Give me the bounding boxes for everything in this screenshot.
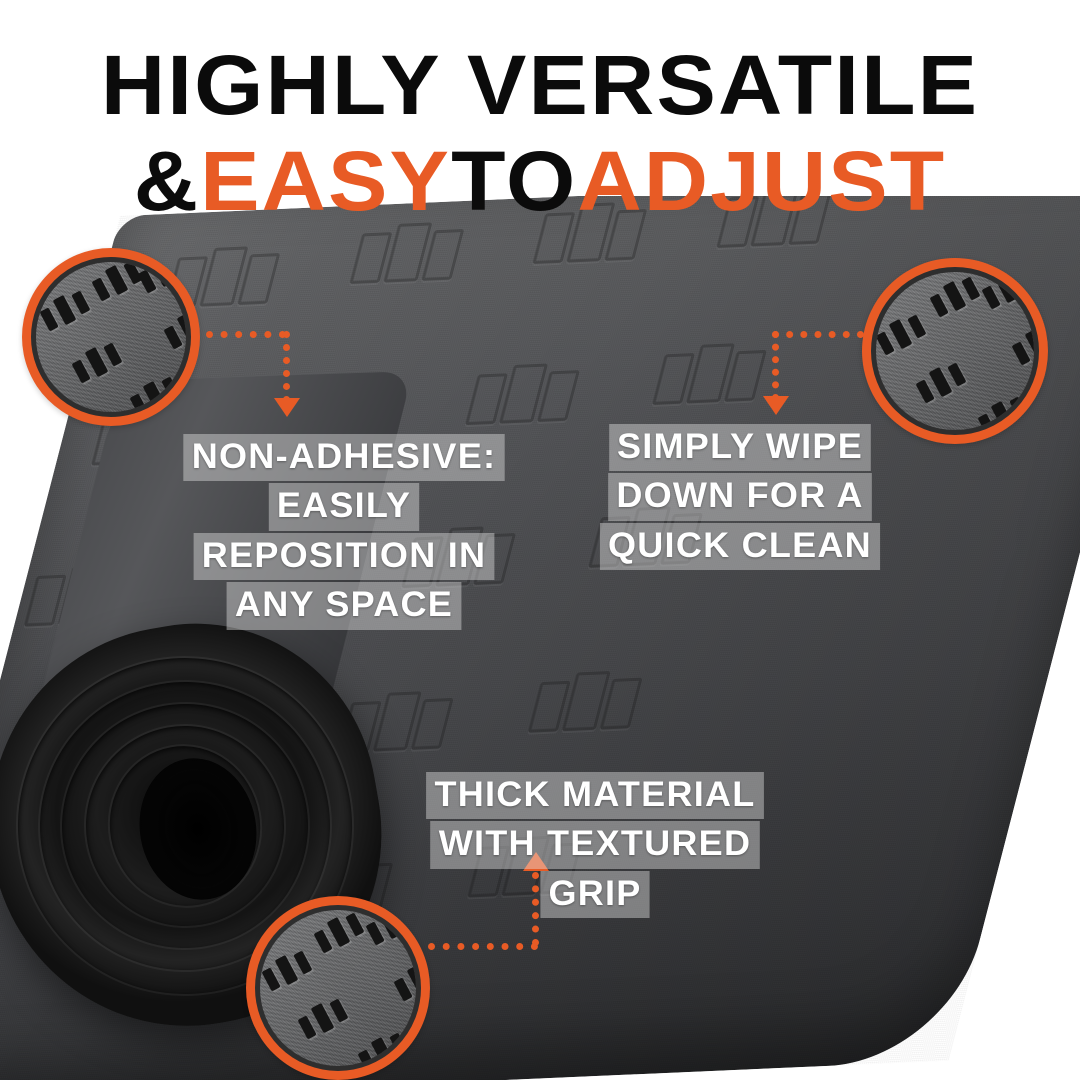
embossed-logo <box>464 362 576 429</box>
callout-line: THICK MATERIAL <box>426 772 764 819</box>
callout-line: NON-ADHESIVE: <box>184 434 505 481</box>
callout-line: SIMPLY WIPE <box>609 424 871 471</box>
callout-label-quick-clean: SIMPLY WIPE DOWN FOR A QUICK CLEAN <box>592 424 889 572</box>
connector-line-non-adhesive-v <box>283 331 290 403</box>
embossed-logo <box>651 342 763 409</box>
callout-line: WITH TEXTURED <box>431 821 760 868</box>
macro-photo-texture <box>31 257 191 417</box>
macro-callout-circle-non-adhesive[interactable] <box>22 248 200 426</box>
embossed-logo <box>531 201 643 268</box>
connector-arrow-non-adhesive <box>274 398 300 417</box>
callout-line: GRIP <box>540 871 650 918</box>
callout-line: DOWN FOR A <box>608 473 872 520</box>
connector-arrow-quick-clean <box>763 396 789 415</box>
callout-line: ANY SPACE <box>227 582 462 629</box>
connector-line-grip-h <box>428 943 538 950</box>
callout-line: REPOSITION IN <box>194 533 495 580</box>
callout-line: QUICK CLEAN <box>600 523 880 570</box>
macro-photo-texture <box>255 905 421 1071</box>
connector-line-non-adhesive-h <box>206 331 286 338</box>
callout-label-textured-grip: THICK MATERIAL WITH TEXTURED GRIP <box>425 772 765 920</box>
headline-line-1: HIGHLY VERSATILE <box>0 44 1080 126</box>
embossed-logo <box>527 670 639 737</box>
macro-callout-circle-textured-grip[interactable] <box>246 896 430 1080</box>
connector-line-quick-clean-v <box>772 331 779 401</box>
macro-callout-circle-quick-clean[interactable] <box>862 258 1048 444</box>
callout-line: EASILY <box>269 483 420 530</box>
connector-line-quick-clean-h <box>772 331 864 338</box>
macro-photo-texture <box>871 267 1039 435</box>
embossed-logo <box>715 196 827 252</box>
callout-label-non-adhesive: NON-ADHESIVE: EASILY REPOSITION IN ANY S… <box>183 434 504 632</box>
embossed-logo <box>348 221 460 288</box>
infographic-canvas: HIGHLY VERSATILE & EASY TO ADJUST <box>0 0 1080 1080</box>
